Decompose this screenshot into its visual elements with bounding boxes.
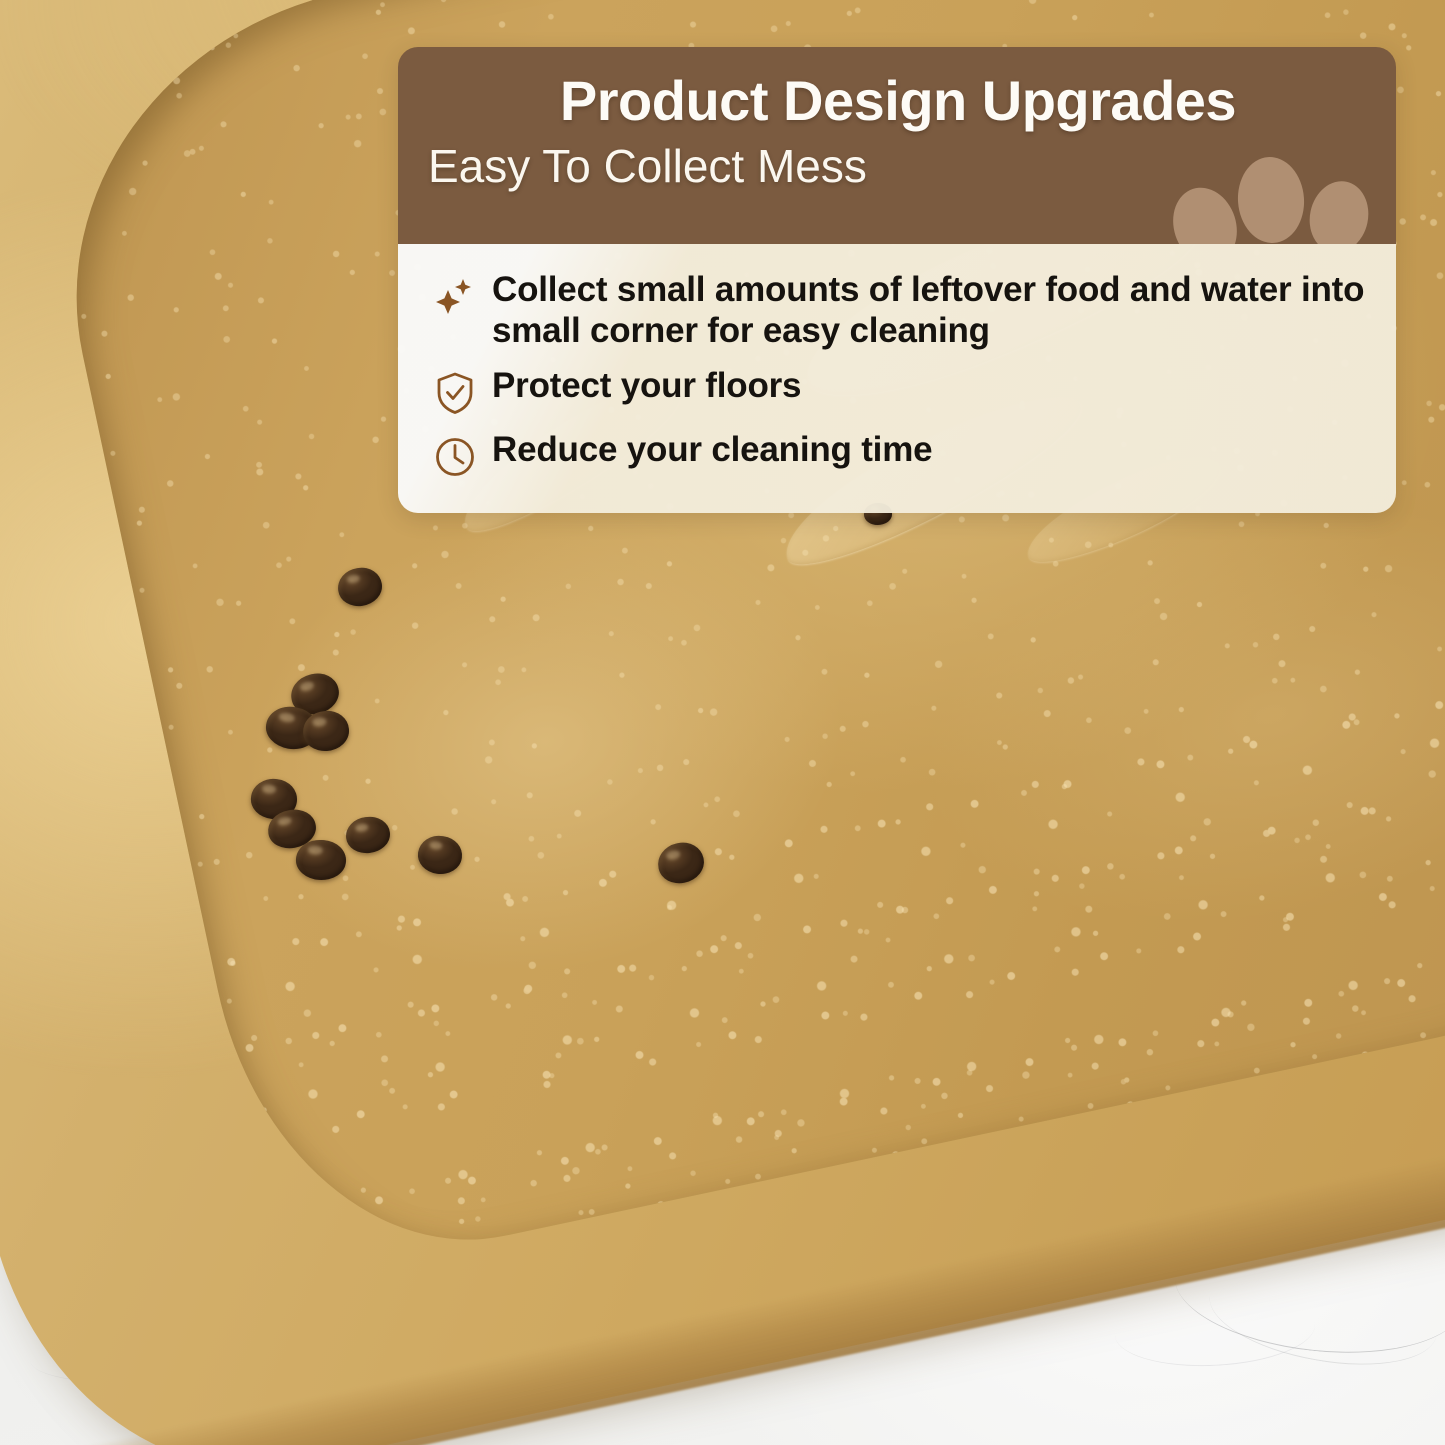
page-subtitle: Easy To Collect Mess <box>398 129 1396 189</box>
feature-bullet-text: Protect your floors <box>492 366 801 407</box>
card-body: Collect small amounts of leftover food a… <box>398 244 1396 513</box>
card-header: Product Design Upgrades Easy To Collect … <box>398 47 1396 244</box>
feature-bullet-protect: Protect your floors <box>432 366 1370 416</box>
feature-bullet-collect: Collect small amounts of leftover food a… <box>432 270 1370 352</box>
sparkles-icon <box>432 274 478 320</box>
product-marketing-image: Smiloo Product Design Upgrades Easy To C… <box>0 0 1445 1445</box>
info-card: Product Design Upgrades Easy To Collect … <box>398 47 1396 513</box>
paw-toe <box>1163 179 1246 244</box>
clock-icon <box>432 434 478 480</box>
shield-check-icon <box>432 370 478 416</box>
marble-vein <box>1113 1290 1316 1371</box>
page-title: Product Design Upgrades <box>398 47 1396 129</box>
feature-bullet-text: Collect small amounts of leftover food a… <box>492 270 1370 352</box>
feature-bullet-text: Reduce your cleaning time <box>492 430 932 471</box>
feature-bullet-reduce-time: Reduce your cleaning time <box>432 430 1370 480</box>
